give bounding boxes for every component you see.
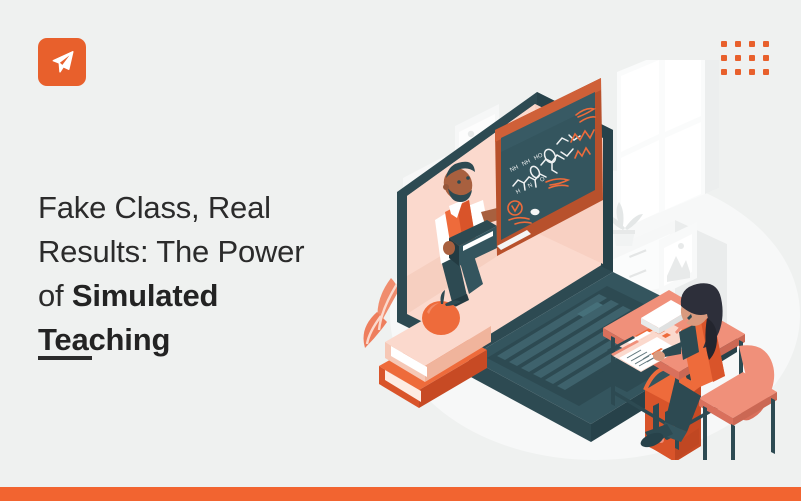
brand-logo[interactable] — [38, 38, 86, 86]
title-line-4-bold: Teaching — [38, 322, 170, 357]
title-line-1: Fake Class, Real — [38, 190, 271, 225]
page-title: Fake Class, Real Results: The Power of S… — [38, 186, 368, 362]
paper-plane-icon — [47, 47, 77, 77]
title-line-2: Results: The Power — [38, 234, 304, 269]
title-line-3-bold: Simulated — [72, 278, 218, 313]
bottom-accent-bar — [0, 487, 801, 501]
cover-canvas: Fake Class, Real Results: The Power of S… — [0, 0, 801, 501]
title-line-3-prefix: of — [38, 278, 72, 313]
title-underline-rule — [38, 356, 92, 360]
online-classroom-illustration: NH NH HO H N O — [345, 60, 801, 460]
